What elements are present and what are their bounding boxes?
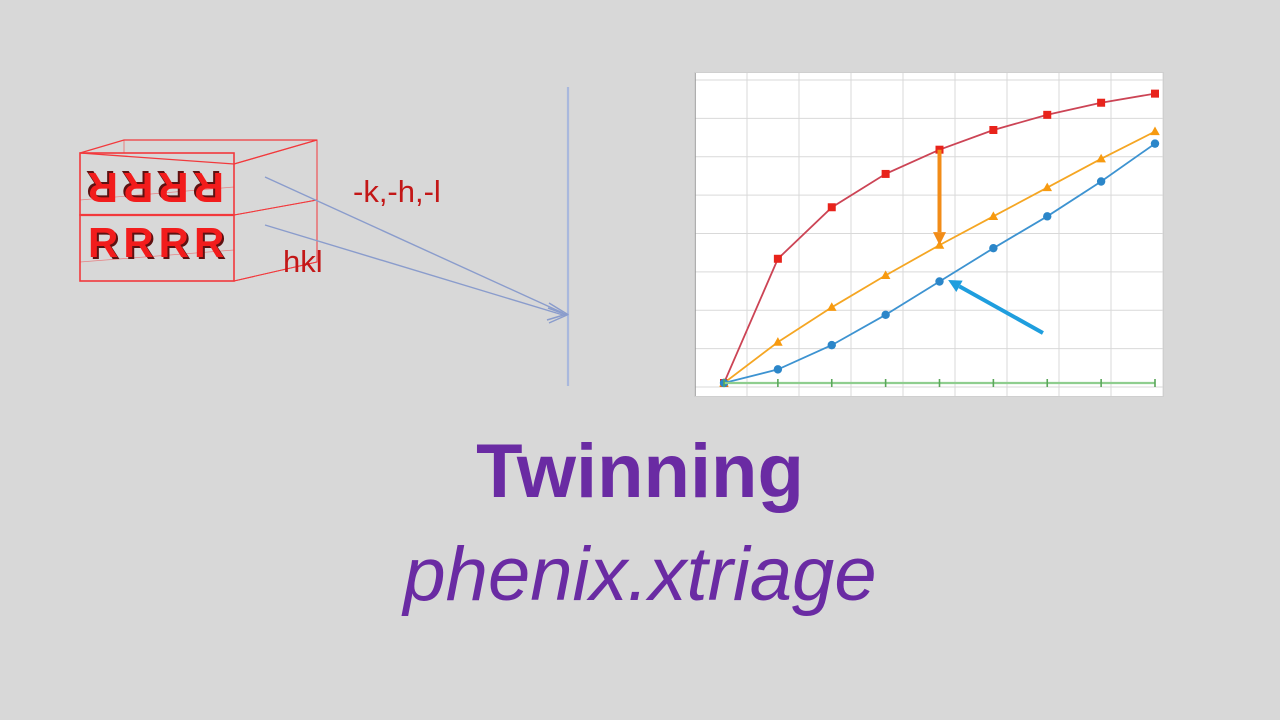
marker-observed-acentric [828,341,836,349]
twin-domain-bottom-letters: RRRR [88,222,229,264]
crystal-top-face [80,140,317,164]
label-twin-operator: -k,-h,-l [353,176,441,207]
marker-observed-acentric [989,244,997,252]
chart-svg [694,72,1164,397]
marker-twinned-cumulative [882,170,890,178]
marker-twinned-cumulative [1043,111,1051,119]
marker-observed-acentric [1043,212,1051,220]
marker-observed-acentric [935,277,943,285]
slide-canvas: RRRR RRRR hkl -k,-h,-l Twinning phenix.x… [0,0,1280,720]
twin-domain-top-letters: RRRR [83,166,224,208]
marker-twinned-cumulative [1151,90,1159,98]
marker-observed-acentric [1151,139,1159,147]
marker-observed-acentric [1097,177,1105,185]
page-title: Twinning [0,432,1280,512]
marker-observed-acentric [881,311,889,319]
label-hkl: hkl [283,246,323,277]
marker-twinned-cumulative [828,203,836,211]
marker-twinned-cumulative [1097,99,1105,107]
cumulative-intensity-chart [694,72,1164,397]
marker-twinned-cumulative [989,126,997,134]
crystal-side-upper [234,140,317,215]
marker-twinned-cumulative [774,255,782,263]
marker-observed-acentric [774,365,782,373]
page-subtitle: phenix.xtriage [0,535,1280,615]
